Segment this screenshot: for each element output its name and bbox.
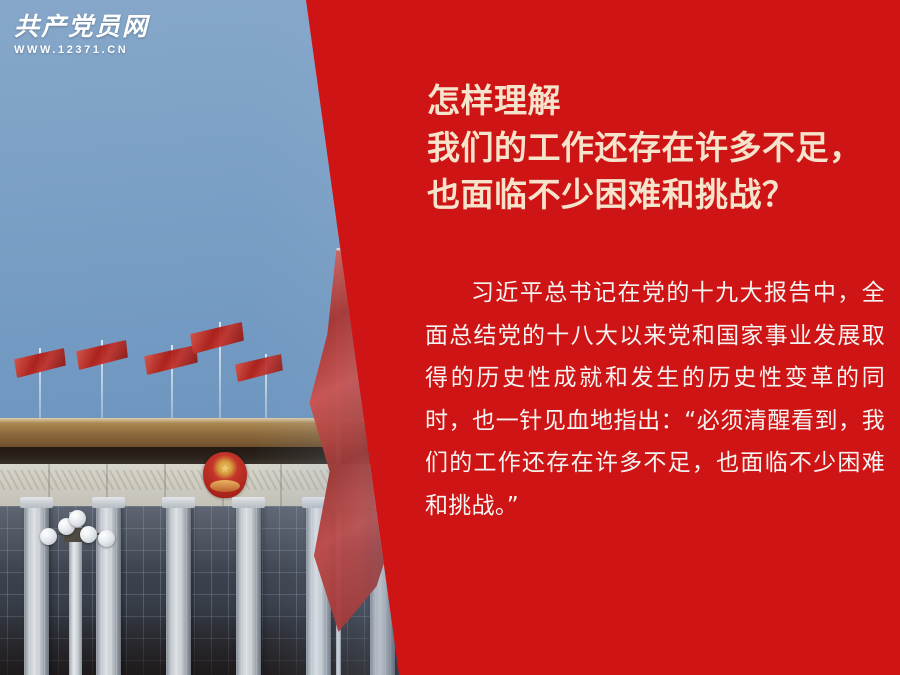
- title-line-3: 也面临不少困难和挑战？: [427, 172, 887, 219]
- site-logo-url: WWW.12371.CN: [14, 45, 149, 56]
- column-fluting: [236, 506, 261, 675]
- window-shadow: [0, 605, 420, 675]
- lamp-globe: [40, 528, 57, 545]
- lamp-globe: [69, 510, 86, 527]
- site-logo[interactable]: 共产党员网 WWW.12371.CN: [14, 14, 149, 56]
- body-paragraph: 习近平总书记在党的十九大报告中，全面总结党的十八大以来党和国家事业发展取得的历史…: [425, 272, 885, 527]
- poster-canvas: 共产党员网 WWW.12371.CN 怎样理解 我们的工作还存在许多不足， 也面…: [0, 0, 900, 675]
- title-line-2: 我们的工作还存在许多不足，: [427, 125, 887, 172]
- title-line-1: 怎样理解: [427, 78, 887, 125]
- column: [236, 506, 261, 675]
- lamp-globe: [80, 526, 97, 543]
- hero-photo: [0, 0, 420, 675]
- column: [166, 506, 191, 675]
- national-emblem-icon: [203, 452, 247, 498]
- site-logo-text: 共产党员网: [14, 14, 149, 39]
- content-panel: 怎样理解 我们的工作还存在许多不足， 也面临不少困难和挑战？ 习近平总书记在党的…: [415, 0, 900, 675]
- lamp-globe: [98, 530, 115, 547]
- lamp-head: [36, 506, 116, 550]
- column-fluting: [166, 506, 191, 675]
- page-title: 怎样理解 我们的工作还存在许多不足， 也面临不少困难和挑战？: [427, 78, 887, 219]
